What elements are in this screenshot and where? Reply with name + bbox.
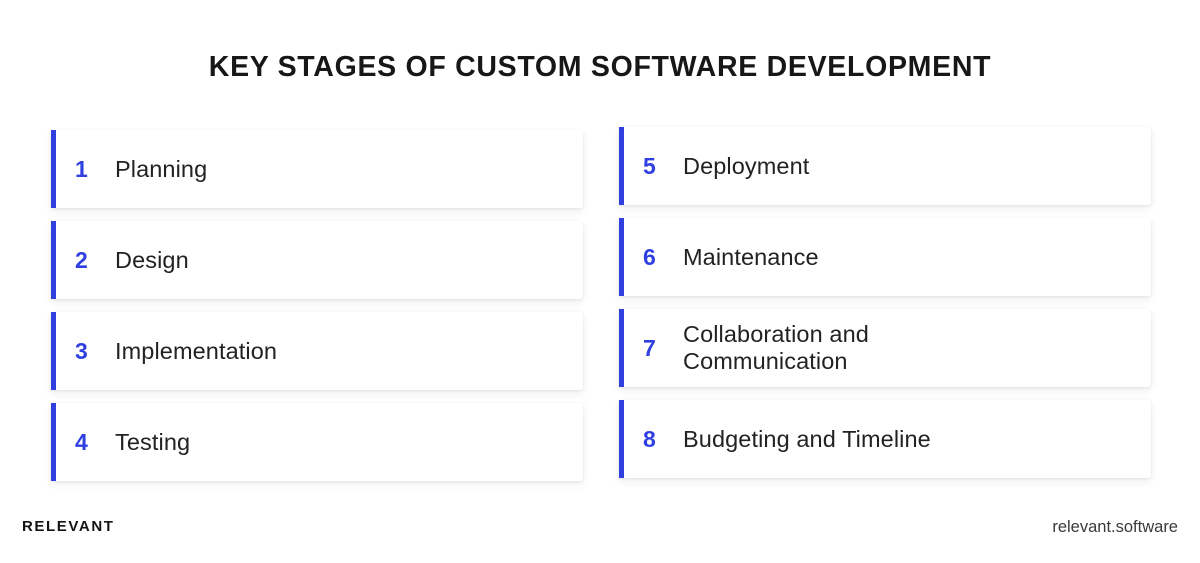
accent-bar-icon [619,309,624,387]
infographic-root: KEY STAGES OF CUSTOM SOFTWARE DEVELOPMEN… [0,0,1200,563]
stage-number: 4 [51,431,115,454]
stage-number: 5 [619,155,683,178]
stage-card-5[interactable]: 5 Deployment [619,127,1151,205]
stage-label: Planning [115,156,207,183]
page-title: KEY STAGES OF CUSTOM SOFTWARE DEVELOPMEN… [0,50,1200,84]
accent-bar-icon [619,127,624,205]
stage-label: Maintenance [683,244,819,271]
stage-number: 1 [51,158,115,181]
stage-label: Collaboration and Communication [683,321,869,375]
stage-number: 6 [619,246,683,269]
stage-label: Implementation [115,338,277,365]
stage-number: 3 [51,340,115,363]
accent-bar-icon [51,312,56,390]
accent-bar-icon [619,218,624,296]
stage-card-4[interactable]: 4 Testing [51,403,583,481]
stage-label: Testing [115,429,190,456]
stage-card-6[interactable]: 6 Maintenance [619,218,1151,296]
stage-card-7[interactable]: 7 Collaboration and Communication [619,309,1151,387]
brand-logo: RELEVANT [22,518,115,536]
stages-column-right: 5 Deployment 6 Maintenance 7 Collaborati… [619,127,1151,483]
stage-label: Budgeting and Timeline [683,426,931,453]
accent-bar-icon [619,400,624,478]
stage-card-1[interactable]: 1 Planning [51,130,583,208]
stage-label: Design [115,247,189,274]
brand-url: relevant.software [1052,518,1178,536]
accent-bar-icon [51,403,56,481]
stage-number: 7 [619,337,683,360]
stages-grid: 1 Planning 2 Design 3 Implementation 4 T… [51,127,1150,483]
stage-number: 8 [619,428,683,451]
stage-card-3[interactable]: 3 Implementation [51,312,583,390]
stage-card-2[interactable]: 2 Design [51,221,583,299]
accent-bar-icon [51,130,56,208]
stages-column-left: 1 Planning 2 Design 3 Implementation 4 T… [51,127,583,486]
stage-label: Deployment [683,153,809,180]
stage-card-8[interactable]: 8 Budgeting and Timeline [619,400,1151,478]
accent-bar-icon [51,221,56,299]
stage-number: 2 [51,249,115,272]
